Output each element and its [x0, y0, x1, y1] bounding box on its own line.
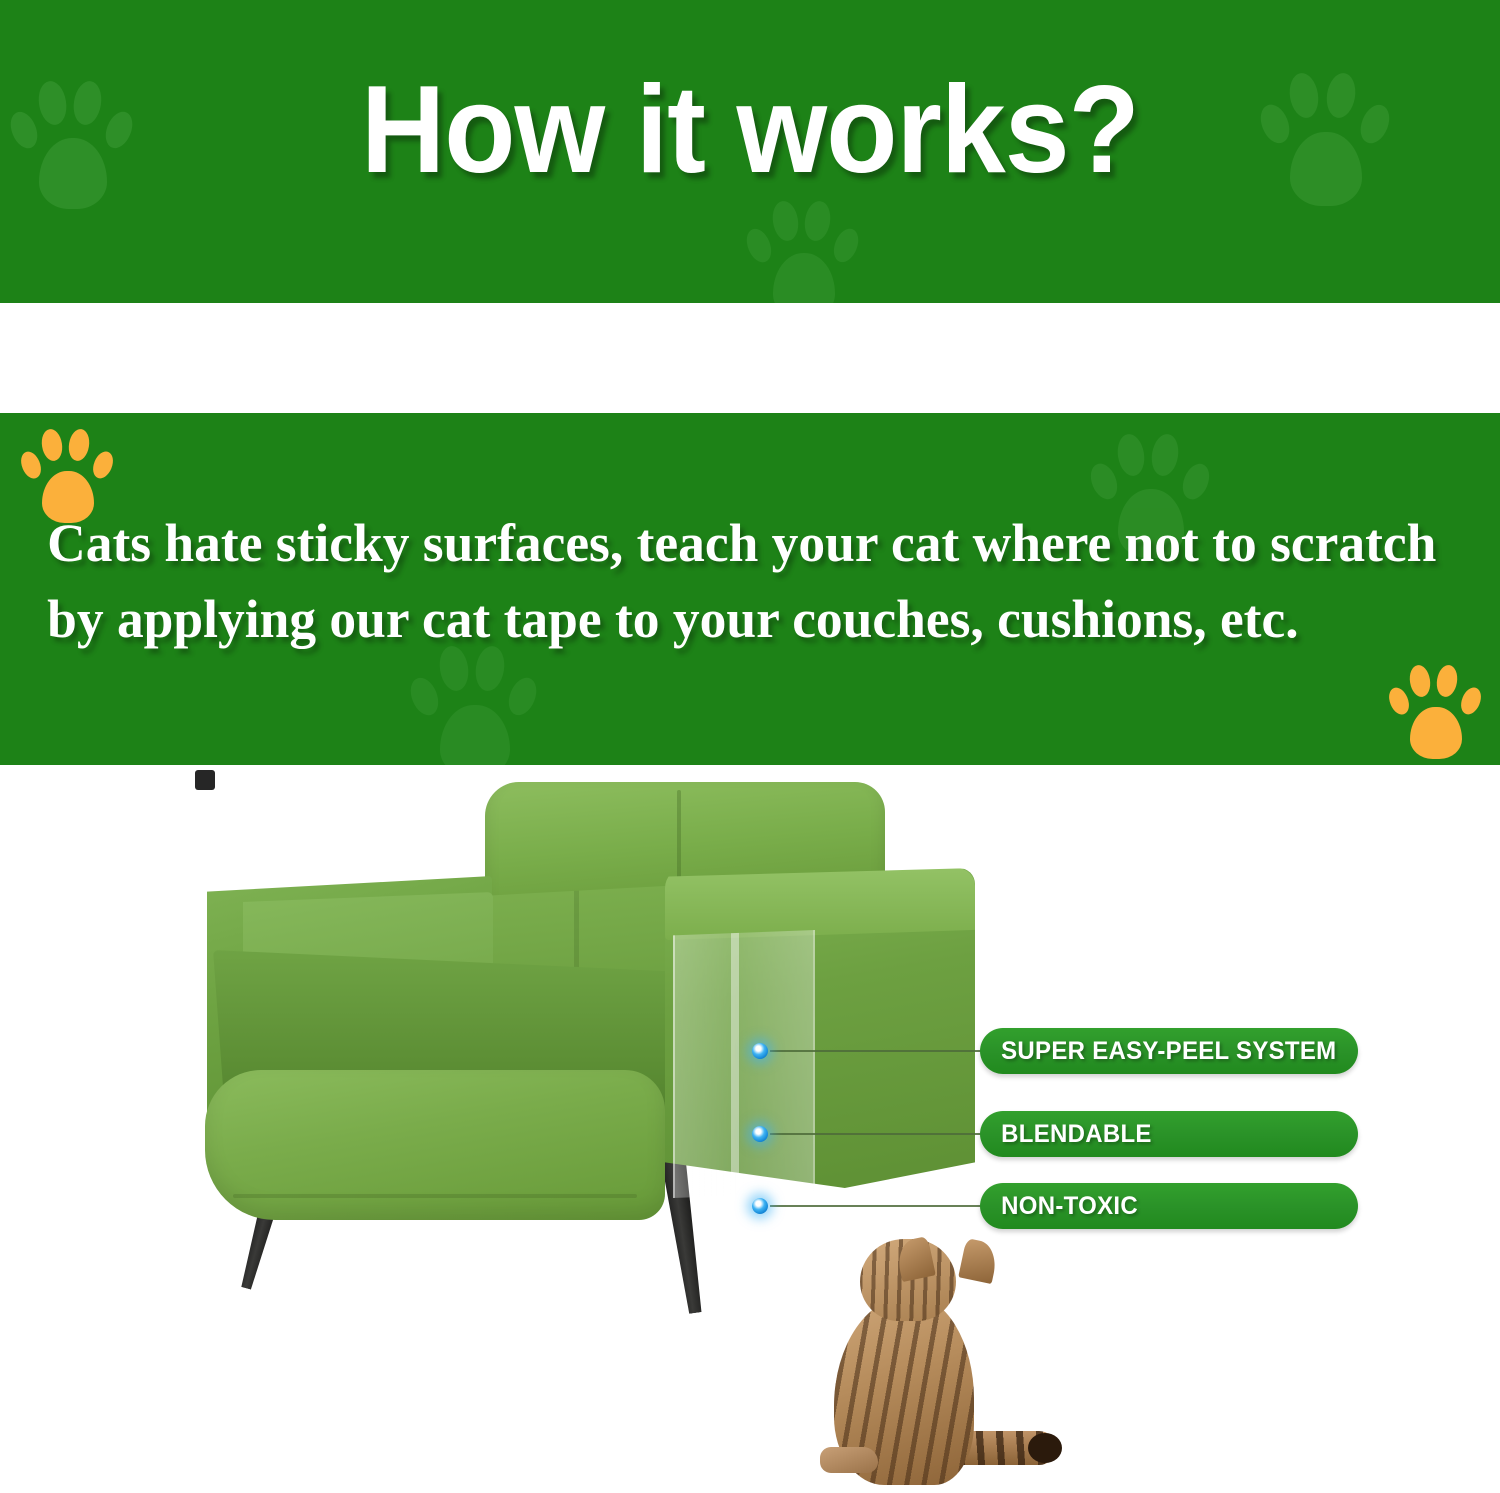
paw-print-icon: [748, 198, 860, 303]
subheading-line-1: Cats hate sticky surfaces, teach your ca…: [47, 505, 1458, 581]
armchair-seat-cushion: [205, 1070, 665, 1220]
title-banner: How it works?: [0, 0, 1500, 303]
armchair-leg-rear: [195, 770, 215, 790]
cat-head: [860, 1239, 956, 1321]
feature-badge-blendable[interactable]: BLENDABLE: [980, 1111, 1358, 1157]
feature-badge-non-toxic[interactable]: NON-TOXIC: [980, 1183, 1358, 1229]
subheading-text: Cats hate sticky surfaces, teach your ca…: [47, 505, 1458, 657]
callout-marker-dot: [752, 1126, 768, 1142]
callout-leader-line: [770, 1205, 982, 1207]
armchair-arm-right-top: [665, 868, 975, 940]
subheading-line-2: by applying our cat tape to your couches…: [47, 581, 1458, 657]
paw-print-icon: [1390, 663, 1482, 763]
feature-badge-label: BLENDABLE: [980, 1120, 1152, 1149]
cat-ear-left: [894, 1236, 936, 1282]
paw-print-icon: [412, 643, 538, 765]
callout-leader-line: [770, 1050, 982, 1052]
infographic-canvas: How it works? Cats hate sticky surfaces,…: [0, 0, 1500, 1493]
page-title: How it works?: [45, 68, 1455, 192]
cat-photo: [820, 1235, 1050, 1493]
feature-badge-label: SUPER EASY-PEEL SYSTEM: [980, 1037, 1336, 1066]
callout-leader-line: [770, 1133, 982, 1135]
cat-ear-right: [958, 1238, 1000, 1284]
feature-badge-label: NON-TOXIC: [980, 1192, 1138, 1221]
callout-marker-dot: [752, 1043, 768, 1059]
feature-badge-easy-peel[interactable]: SUPER EASY-PEEL SYSTEM: [980, 1028, 1358, 1074]
protective-tape-strip: [673, 930, 815, 1198]
cat-paw: [820, 1447, 878, 1473]
callout-marker-dot: [752, 1198, 768, 1214]
